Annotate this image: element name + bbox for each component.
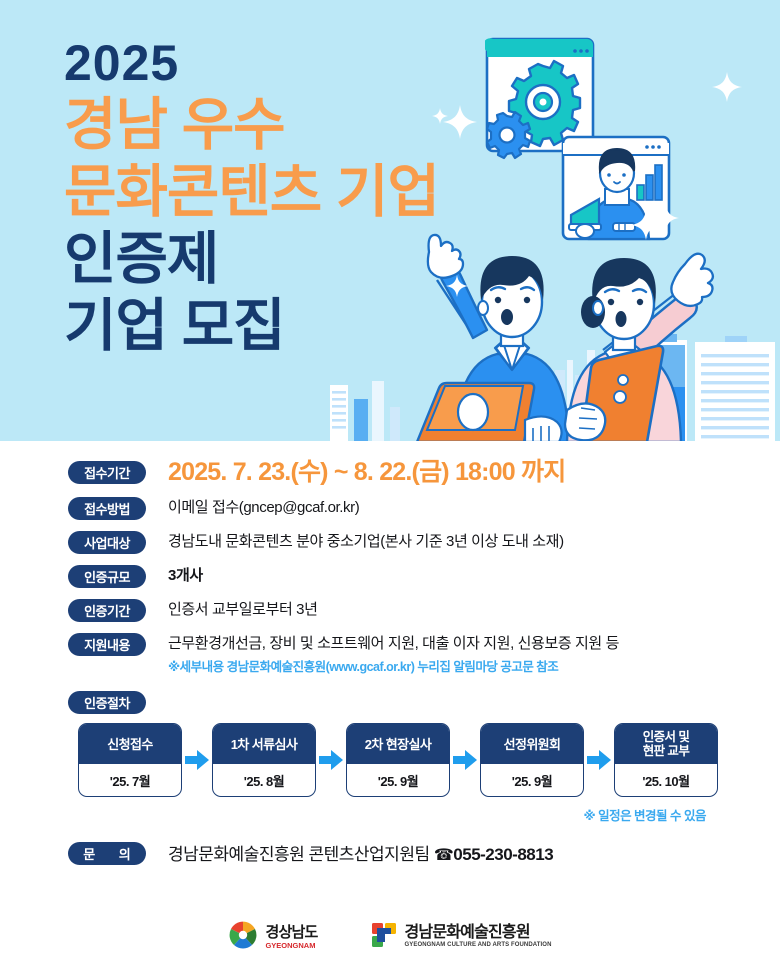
- info-row-application-period: 접수기간 2025. 7. 23.(수) ~ 8. 22.(금) 18:00 까…: [0, 459, 780, 486]
- poster-root: 2025 경남 우수 문화콘텐츠 기업 인증제 기업 모집: [0, 0, 780, 975]
- gyeongnam-province-logo: 경상남도 GYEONGNAM: [228, 920, 317, 955]
- poster-year: 2025: [64, 34, 439, 92]
- process-step-3: 2차 현장실사 '25. 9월: [346, 723, 450, 797]
- info-label-application-method: 접수방법: [68, 497, 146, 520]
- process-step-5: 인증서 및 현판 교부 '25. 10월: [614, 723, 718, 797]
- process-step-2-date: '25. 8월: [213, 764, 315, 796]
- process-step-3-title: 2차 현장실사: [347, 724, 449, 764]
- info-value-support-wrap: 근무환경개선금, 장비 및 소프트웨어 지원, 대출 이자 지원, 신용보증 지…: [168, 631, 619, 675]
- contact-label: 문 의: [68, 842, 146, 865]
- info-value-application-method: 이메일 접수(gncep@gcaf.or.kr): [168, 495, 359, 519]
- poster-body: 접수기간 2025. 7. 23.(수) ~ 8. 22.(금) 18:00 까…: [0, 441, 780, 975]
- info-label-support: 지원내용: [68, 633, 146, 656]
- logo-sub-text: GYEONGNAM CULTURE AND ARTS FOUNDATION: [404, 941, 551, 950]
- footer-logos: 경상남도 GYEONGNAM 경남문화예술진흥원 GYEONGN: [0, 920, 780, 955]
- process-step-4-date: '25. 9월: [481, 764, 583, 796]
- arrow-right-icon: [450, 750, 480, 770]
- process-flow: 신청접수 '25. 7월 1차 서류심사 '25. 8월 2차 현장실사 '25…: [0, 723, 780, 797]
- person-with-smartphone-pointing: [565, 254, 713, 441]
- poster-title-line-3: 인증제: [64, 226, 439, 293]
- process-step-3-date: '25. 9월: [347, 764, 449, 796]
- sparkle-icon: [446, 275, 468, 297]
- schedule-change-note: ※ 일정은 변경될 수 있음: [0, 805, 780, 824]
- info-row-eligibility: 사업대상 경남도내 문화콘텐츠 분야 중소기업(본사 기준 3년 이상 도내 소…: [0, 529, 780, 554]
- process-step-1-title: 신청접수: [79, 724, 181, 764]
- contact-phone-group: ☎055-230-8813: [434, 845, 553, 864]
- info-label-duration: 인증기간: [68, 599, 146, 622]
- poster-header: 2025 경남 우수 문화콘텐츠 기업 인증제 기업 모집: [0, 0, 780, 441]
- info-value-support: 근무환경개선금, 장비 및 소프트웨어 지원, 대출 이자 지원, 신용보증 지…: [168, 635, 619, 652]
- process-step-5-title: 인증서 및 현판 교부: [615, 724, 717, 764]
- arrow-right-icon: [584, 750, 614, 770]
- process-step-4-title: 선정위원회: [481, 724, 583, 764]
- logo-sub-text: GYEONGNAM: [265, 941, 317, 950]
- arrow-right-icon: [316, 750, 346, 770]
- info-row-quota: 인증규모 3개사: [0, 563, 780, 588]
- info-value-quota: 3개사: [168, 563, 203, 587]
- info-value-eligibility: 경남도내 문화콘텐츠 분야 중소기업(본사 기준 3년 이상 도내 소재): [168, 529, 564, 553]
- person-with-laptop-pointing-up: [417, 235, 569, 441]
- poster-title-block: 2025 경남 우수 문화콘텐츠 기업 인증제 기업 모집: [64, 34, 439, 360]
- process-step-2: 1차 서류심사 '25. 8월: [212, 723, 316, 797]
- process-step-5-date: '25. 10월: [615, 764, 717, 796]
- poster-title-line-2: 문화콘텐츠 기업: [64, 159, 439, 226]
- contact-value: 경남문화예술진흥원 콘텐츠산업지원팀 ☎055-230-8813: [168, 840, 553, 865]
- sparkle-icon: [443, 105, 477, 139]
- info-label-quota: 인증규모: [68, 565, 146, 588]
- logo-main-text: 경상남도: [265, 925, 317, 941]
- gyeongnam-province-symbol-icon: [228, 920, 258, 955]
- info-row-application-method: 접수방법 이메일 접수(gncep@gcaf.or.kr): [0, 495, 780, 520]
- contact-organization: 경남문화예술진흥원 콘텐츠산업지원팀: [168, 845, 430, 864]
- arrow-right-icon: [182, 750, 212, 770]
- info-note-support: ※세부내용 경남문화예술진흥원(www.gcaf.or.kr) 누리집 알림마당…: [168, 659, 619, 675]
- info-row-duration: 인증기간 인증서 교부일로부터 3년: [0, 597, 780, 622]
- process-step-1: 신청접수 '25. 7월: [78, 723, 182, 797]
- sparkle-icon: [712, 72, 742, 102]
- info-value-duration: 인증서 교부일로부터 3년: [168, 597, 317, 621]
- sparkle-icon: [631, 210, 661, 240]
- poster-title-line-4: 기업 모집: [64, 293, 439, 360]
- process-step-2-title: 1차 서류심사: [213, 724, 315, 764]
- process-step-1-date: '25. 7월: [79, 764, 181, 796]
- poster-title-line-1: 경남 우수: [64, 92, 439, 159]
- info-label-application-period: 접수기간: [68, 461, 146, 484]
- contact-phone-number: 055-230-8813: [453, 845, 553, 864]
- logo-main-text: 경남문화예술진흥원: [404, 925, 551, 941]
- gyeongnam-province-logo-text: 경상남도 GYEONGNAM: [265, 925, 317, 950]
- info-row-support: 지원내용 근무환경개선금, 장비 및 소프트웨어 지원, 대출 이자 지원, 신…: [0, 631, 780, 675]
- gcaf-symbol-icon: [371, 922, 397, 953]
- process-label: 인증절차: [68, 691, 146, 714]
- gcaf-logo-text: 경남문화예술진흥원 GYEONGNAM CULTURE AND ARTS FOU…: [404, 925, 551, 950]
- process-label-row: 인증절차: [0, 691, 780, 714]
- telephone-icon: ☎: [434, 847, 453, 864]
- contact-row: 문 의 경남문화예술진흥원 콘텐츠산업지원팀 ☎055-230-8813: [0, 840, 780, 865]
- process-step-4: 선정위원회 '25. 9월: [480, 723, 584, 797]
- gcaf-logo: 경남문화예술진흥원 GYEONGNAM CULTURE AND ARTS FOU…: [371, 922, 551, 953]
- info-list: 접수기간 2025. 7. 23.(수) ~ 8. 22.(금) 18:00 까…: [0, 459, 780, 865]
- info-label-eligibility: 사업대상: [68, 531, 146, 554]
- info-value-application-period: 2025. 7. 23.(수) ~ 8. 22.(금) 18:00 까지: [168, 459, 565, 486]
